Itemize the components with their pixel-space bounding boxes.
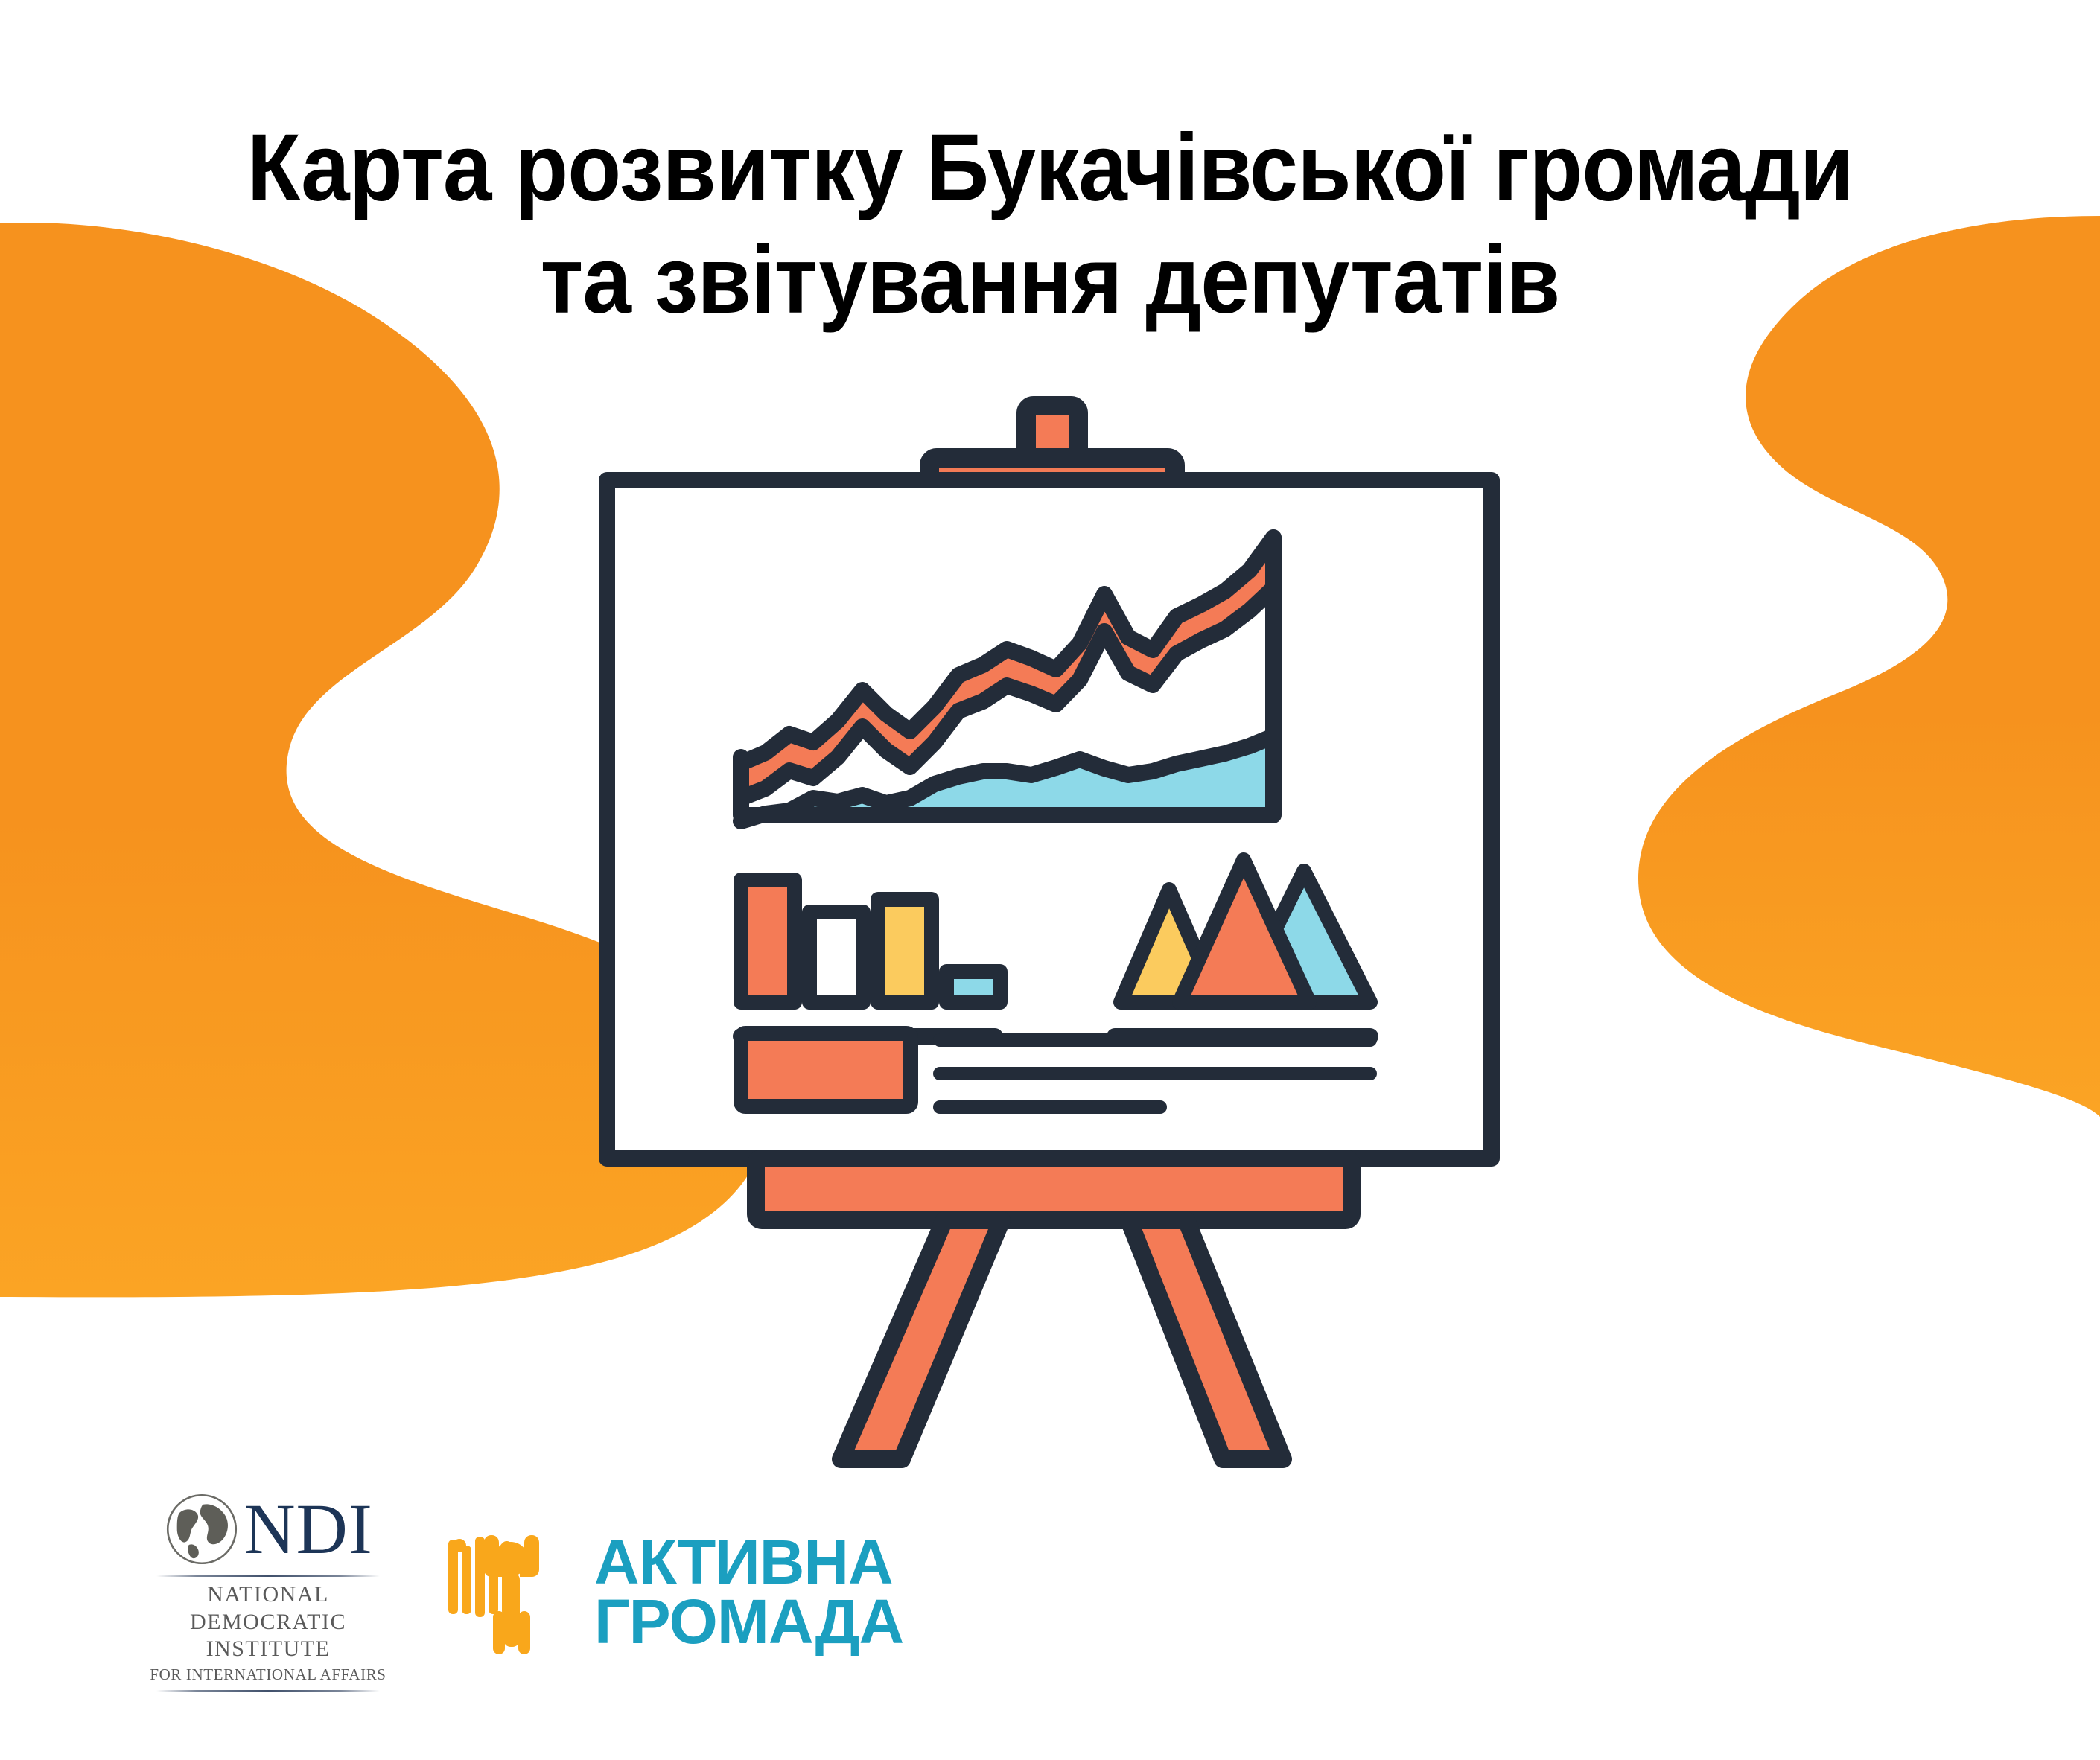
poster-title: Карта розвитку Букачівської громади та з… xyxy=(0,112,2100,337)
ndi-logo: NDI NATIONAL DEMOCRATIC INSTITUTE FOR IN… xyxy=(149,1489,387,1696)
ah-word-1: АКТИВНА xyxy=(594,1533,903,1592)
aktyvna-hromada-logo: АКТИВНА ГРОМАДА xyxy=(439,1523,903,1661)
ndi-logo-mark: NDI xyxy=(163,1489,373,1569)
title-line-1: Карта розвитку Букачівської громади xyxy=(84,112,2016,224)
ndi-acronym: NDI xyxy=(244,1493,373,1565)
aktyvna-hromada-wordmark: АКТИВНА ГРОМАДА xyxy=(594,1533,903,1652)
ndi-divider-top xyxy=(156,1575,380,1577)
ndi-name-line-3: INSTITUTE xyxy=(206,1636,331,1663)
left-orange-wave-shape xyxy=(0,223,768,1297)
ndi-name-line-4: FOR INTERNATIONAL AFFAIRS xyxy=(150,1665,386,1684)
title-line-2: та звітування депутатів xyxy=(84,224,2016,337)
globe-icon xyxy=(163,1490,241,1568)
ndi-name-line-1: NATIONAL xyxy=(207,1581,329,1609)
ndi-name-line-2: DEMOCRATIC xyxy=(190,1609,346,1636)
right-orange-wave-shape xyxy=(1638,216,2100,1117)
poster-canvas: Карта розвитку Букачівської громади та з… xyxy=(0,0,2100,1760)
raised-hands-people-icon xyxy=(439,1523,581,1661)
ah-word-2: ГРОМАДА xyxy=(594,1592,903,1652)
logo-row: NDI NATIONAL DEMOCRATIC INSTITUTE FOR IN… xyxy=(149,1489,903,1696)
ndi-divider-bottom xyxy=(156,1690,380,1692)
